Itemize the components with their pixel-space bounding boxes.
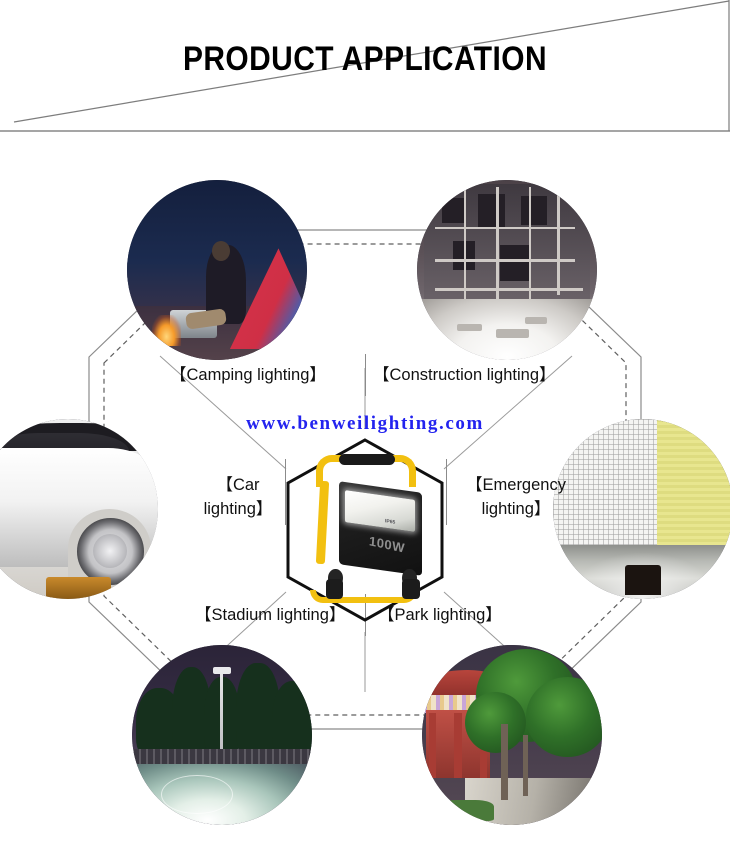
label-park-lighting: 【Park lighting】 [378, 605, 502, 626]
photo-stadium-lighting [132, 645, 312, 825]
label-stadium-lighting: 【Stadium lighting】 [195, 605, 345, 626]
label-car-lighting: 【Car lighting】 [196, 474, 280, 522]
label-divider-top [365, 354, 366, 396]
page-title: PRODUCT APPLICATION [44, 40, 686, 79]
product-arm [316, 481, 330, 565]
product-foot-right [402, 579, 419, 600]
photo-emergency-lighting [553, 419, 730, 599]
label-emergency-lighting-line1: 【Emergency [466, 476, 566, 494]
label-emergency-lighting-line2: lighting】 [482, 500, 551, 518]
photo-car-lighting [0, 419, 158, 599]
photo-camping-lighting [127, 180, 307, 360]
website-watermark: www.benweilighting.com [0, 413, 730, 435]
product-application-page: PRODUCT APPLICATION [0, 0, 730, 851]
label-car-lighting-line1: 【Car [216, 476, 259, 494]
label-construction-lighting: 【Construction lighting】 [373, 365, 556, 386]
label-car-lighting-line2: lighting】 [204, 500, 273, 518]
label-camping-lighting: 【Camping lighting】 [170, 365, 326, 386]
label-emergency-lighting: 【Emergency lighting】 [456, 474, 576, 522]
product-image-led-flood-light: IP65 100W [299, 449, 433, 609]
product-foot-left [326, 579, 343, 600]
photo-park-lighting [422, 645, 602, 825]
photo-construction-lighting [417, 180, 597, 360]
page-header: PRODUCT APPLICATION [0, 0, 730, 132]
hexagon-application-diagram: IP65 100W www.benweilighting.com 【Campin… [0, 132, 730, 851]
product-grip [339, 454, 395, 465]
